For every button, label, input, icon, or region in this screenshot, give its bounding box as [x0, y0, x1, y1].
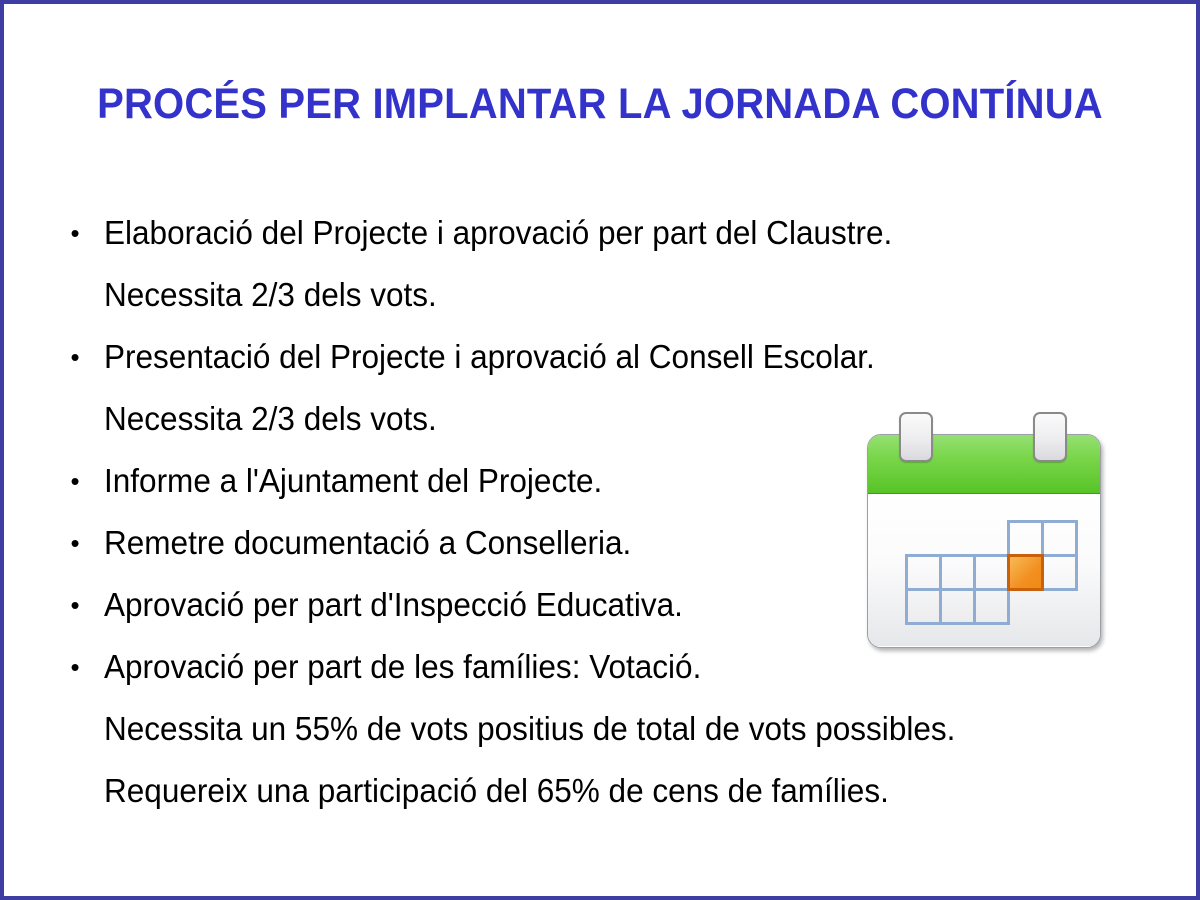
bullet-icon: •	[67, 202, 83, 264]
calendar-cell	[973, 588, 1010, 625]
list-item-continuation: Necessita 2/3 dels vots.	[56, 264, 1146, 326]
list-item-label: Presentació del Projecte i aprovació al …	[104, 326, 875, 388]
list-item: •Elaboració del Projecte i aprovació per…	[56, 202, 1146, 264]
calendar-card	[867, 434, 1101, 648]
list-item-label: Aprovació per part d'Inspecció Educativa…	[104, 574, 683, 636]
bullet-icon: •	[67, 574, 83, 636]
calendar-cell-today	[1007, 554, 1044, 591]
calendar-cell	[905, 554, 942, 591]
list-item-label: Elaboració del Projecte i aprovació per …	[104, 202, 892, 264]
list-item-label: Necessita un 55% de vots positius de tot…	[104, 698, 955, 760]
bullet-icon: •	[67, 512, 83, 574]
list-item-label: Remetre documentació a Conselleria.	[104, 512, 631, 574]
list-item: •Presentació del Projecte i aprovació al…	[56, 326, 1146, 388]
calendar-rings	[859, 404, 1115, 466]
page-title: PROCÉS PER IMPLANTAR LA JORNADA CONTÍNUA	[46, 78, 1155, 130]
calendar-cell	[1007, 520, 1044, 557]
list-item-continuation: Requereix una participació del 65% de ce…	[56, 760, 1146, 822]
bullet-icon: •	[67, 326, 83, 388]
bullet-icon: •	[67, 450, 83, 512]
calendar-cell	[973, 554, 1010, 591]
calendar-icon	[859, 404, 1115, 660]
list-item-label: Necessita 2/3 dels vots.	[104, 388, 437, 450]
calendar-cell	[1041, 520, 1078, 557]
list-item-label: Informe a l'Ajuntament del Projecte.	[104, 450, 602, 512]
list-item-label: Requereix una participació del 65% de ce…	[104, 760, 889, 822]
bullet-icon: •	[67, 636, 83, 698]
calendar-cell	[939, 588, 976, 625]
calendar-cell	[905, 588, 942, 625]
calendar-grid	[868, 494, 1100, 646]
calendar-ring-left	[899, 412, 933, 462]
calendar-body	[868, 494, 1100, 646]
list-item-continuation: Necessita un 55% de vots positius de tot…	[56, 698, 1146, 760]
slide: PROCÉS PER IMPLANTAR LA JORNADA CONTÍNUA…	[0, 0, 1200, 900]
list-item-label: Aprovació per part de les famílies: Vota…	[104, 636, 701, 698]
calendar-cell	[939, 554, 976, 591]
list-item-label: Necessita 2/3 dels vots.	[104, 264, 437, 326]
calendar-cell	[1041, 554, 1078, 591]
calendar-ring-right	[1033, 412, 1067, 462]
